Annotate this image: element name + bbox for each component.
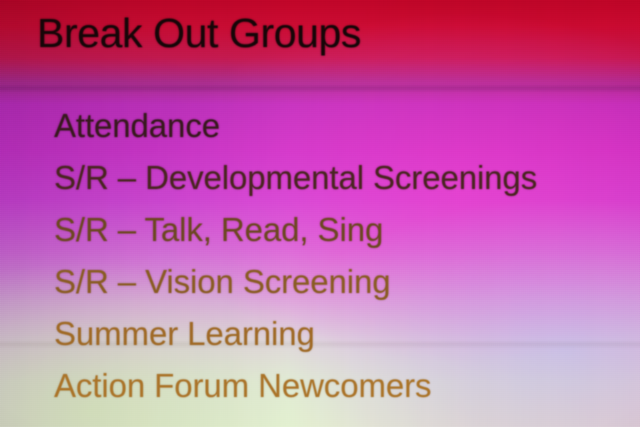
list-item: S/R – Developmental Screenings <box>54 152 537 204</box>
list-item: S/R – Vision Screening <box>54 256 537 308</box>
projected-slide-photo: Break Out Groups Attendance S/R – Develo… <box>0 0 640 427</box>
list-item: Attendance <box>54 100 537 152</box>
page-title: Break Out Groups <box>37 9 361 57</box>
list-item: Summer Learning <box>54 308 537 360</box>
breakout-group-list: Attendance S/R – Developmental Screening… <box>54 100 537 412</box>
list-item: S/R – Talk, Read, Sing <box>54 204 537 256</box>
slide-content: Break Out Groups Attendance S/R – Develo… <box>0 0 640 427</box>
list-item: Action Forum Newcomers <box>54 360 537 412</box>
